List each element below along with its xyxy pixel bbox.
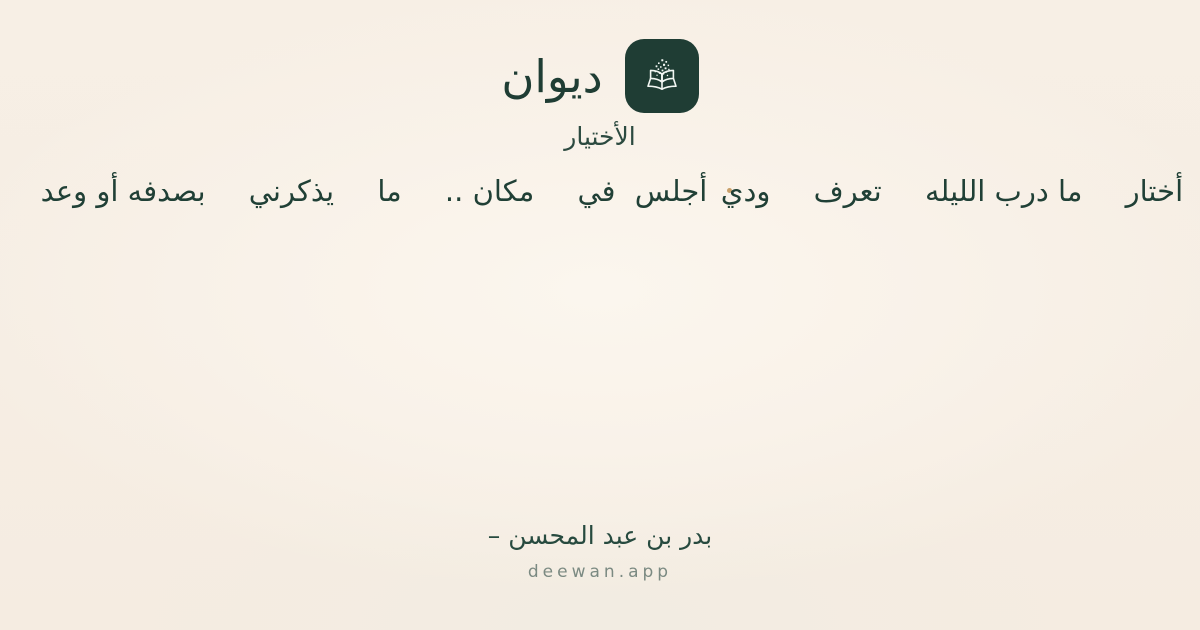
site-url: deewan.app [528,562,672,582]
verse-line: دي أختار ما درب الليله تعرف ودي أجلس في … [7,166,1200,216]
verse-marquee: دي أختار ما درب الليله تعرف ودي أجلس في … [0,166,1200,216]
app-title: ديوان [501,54,602,99]
verse-word: أختار [1126,166,1184,216]
verse-word: في [577,166,615,216]
app-logo [625,39,699,113]
poet-attribution: بدر بن عبد المحسن – [488,520,713,551]
verse-word: يذكرني [249,166,334,216]
card-footer: بدر بن عبد المحسن – deewan.app [0,520,1200,582]
open-book-sparkles-icon [639,53,685,99]
verse-word: ودي [721,166,771,216]
verse-word: بصدفه أو وعد [41,166,206,216]
brand-header: ديوان [0,38,1200,114]
verse-word: ما [377,166,401,216]
verse-word: تعرف [814,166,882,216]
verse-word: مكان .. [445,166,534,216]
poem-subtitle: الأختيار [0,122,1200,152]
verse-word: أجلس [635,166,708,216]
share-card: ديوان الأختيار دي أختار ما درب الليله تع… [0,0,1200,630]
verse-word: ما درب الليله [925,166,1082,216]
